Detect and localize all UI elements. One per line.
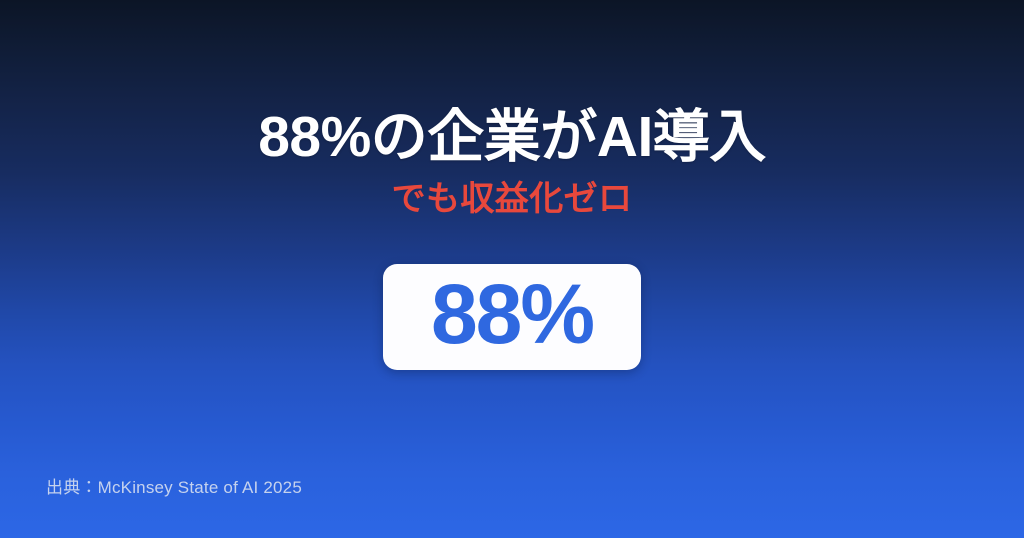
subtitle: でも収益化ゼロ [392, 182, 633, 216]
stat-card: 88% [383, 264, 641, 370]
stat-value: 88% [431, 272, 593, 356]
source-note: 出典：McKinsey State of AI 2025 [46, 478, 302, 498]
slide-content-stack: 88%の企業がAI導入 でも収益化ゼロ 88% [0, 0, 1024, 460]
page-title: 88%の企業がAI導入 [258, 108, 766, 166]
slide-canvas: 88%の企業がAI導入 でも収益化ゼロ 88% 出典：McKinsey Stat… [0, 0, 1024, 538]
